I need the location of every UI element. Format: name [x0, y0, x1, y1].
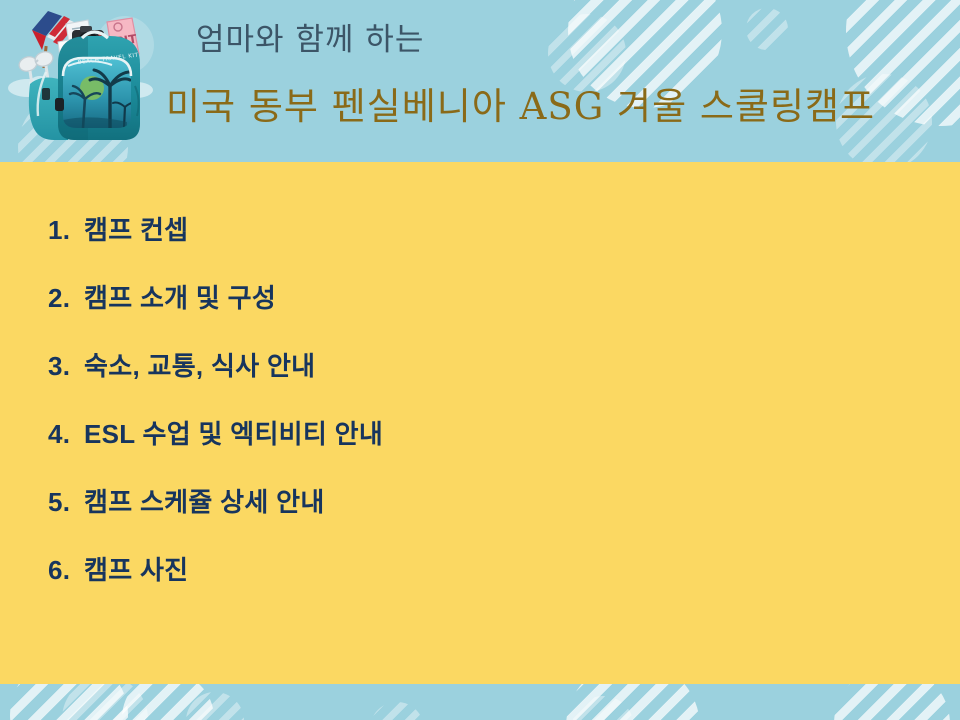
list-item-label: 캠프 컨셉 — [84, 210, 188, 247]
slide-title: 미국 동부 펜실베니아 ASG 겨울 스쿨링캠프 — [166, 76, 875, 130]
list-item-label: 캠프 스케쥴 상세 안내 — [84, 482, 325, 519]
list-item-label: 숙소, 교통, 식사 안내 — [84, 346, 315, 383]
list-item-number: 4. — [48, 419, 84, 450]
striped-circle-decor — [122, 684, 214, 720]
list-item-label: ESL 수업 및 엑티비티 안내 — [84, 414, 383, 451]
list-item: 6. 캠프 사진 — [48, 550, 908, 618]
striped-circle-decor — [370, 702, 424, 720]
slide-footer — [0, 684, 960, 720]
striped-circle-decor — [186, 692, 244, 720]
slide-subtitle: 엄마와 함께 하는 — [196, 14, 424, 59]
list-item: 3. 숙소, 교통, 식사 안내 — [48, 346, 908, 414]
agenda-list: 1. 캠프 컨셉 2. 캠프 소개 및 구성 3. 숙소, 교통, 식사 안내 … — [48, 210, 908, 618]
striped-circle-decor — [10, 684, 128, 720]
slide-header: PIT — [0, 0, 960, 162]
list-item-label: 캠프 사진 — [84, 550, 188, 587]
list-item-number: 5. — [48, 487, 84, 518]
list-item: 5. 캠프 스케쥴 상세 안내 — [48, 482, 908, 550]
list-item-number: 1. — [48, 215, 84, 246]
striped-circle-decor — [566, 684, 700, 720]
list-item: 2. 캠프 소개 및 구성 — [48, 278, 908, 346]
striped-circle-decor — [62, 684, 148, 720]
presentation-slide: PIT — [0, 0, 960, 720]
header-text-block: 엄마와 함께 하는 미국 동부 펜실베니아 ASG 겨울 스쿨링캠프 — [0, 0, 960, 162]
list-item-number: 3. — [48, 351, 84, 382]
striped-circle-decor — [834, 684, 950, 720]
list-item-label: 캠프 소개 및 구성 — [84, 278, 276, 315]
list-item: 1. 캠프 컨셉 — [48, 210, 908, 278]
slide-body-panel: 1. 캠프 컨셉 2. 캠프 소개 및 구성 3. 숙소, 교통, 식사 안내 … — [0, 162, 960, 684]
striped-circle-decor — [572, 696, 634, 720]
list-item-number: 2. — [48, 283, 84, 314]
list-item: 4. ESL 수업 및 엑티비티 안내 — [48, 414, 908, 482]
footer-decoration-layer — [0, 684, 960, 720]
list-item-number: 6. — [48, 555, 84, 586]
